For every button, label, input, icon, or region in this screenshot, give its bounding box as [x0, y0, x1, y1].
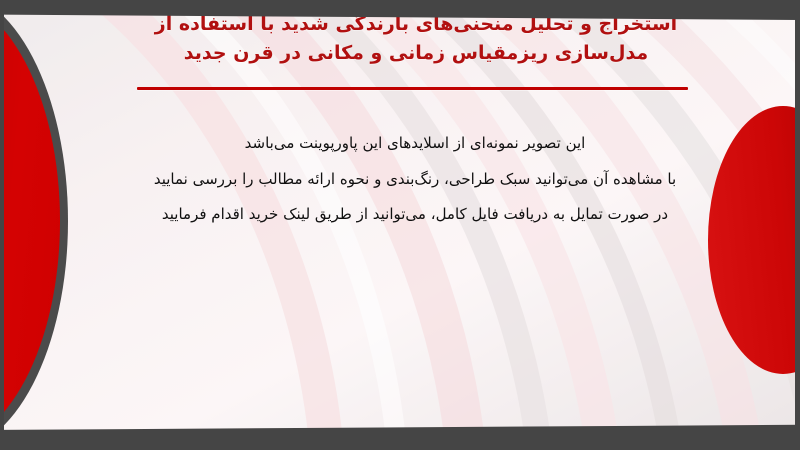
- body-line-1: این تصویر نمونه‌ای از اسلایدهای این پاور…: [120, 126, 710, 162]
- frame-edge-left: [0, 0, 4, 450]
- presentation-slide: استخراج و تحلیل منحنی‌های بارندگی شدید ب…: [0, 0, 800, 450]
- body-line-3: در صورت تمایل به دریافت فایل کامل، می‌تو…: [120, 197, 710, 233]
- body-line-2: با مشاهده آن می‌توانید سبک طراحی، رنگ‌بن…: [120, 162, 710, 198]
- slide-body: این تصویر نمونه‌ای از اسلایدهای این پاور…: [120, 126, 710, 233]
- slide-canvas: استخراج و تحلیل منحنی‌های بارندگی شدید ب…: [0, 8, 800, 436]
- title-line-2: مدل‌سازی ریزمقیاس زمانی و مکانی در قرن ج…: [110, 39, 722, 68]
- title-underline-rule: [137, 87, 688, 90]
- slide-content: استخراج و تحلیل منحنی‌های بارندگی شدید ب…: [0, 8, 800, 436]
- frame-edge-right: [795, 0, 800, 450]
